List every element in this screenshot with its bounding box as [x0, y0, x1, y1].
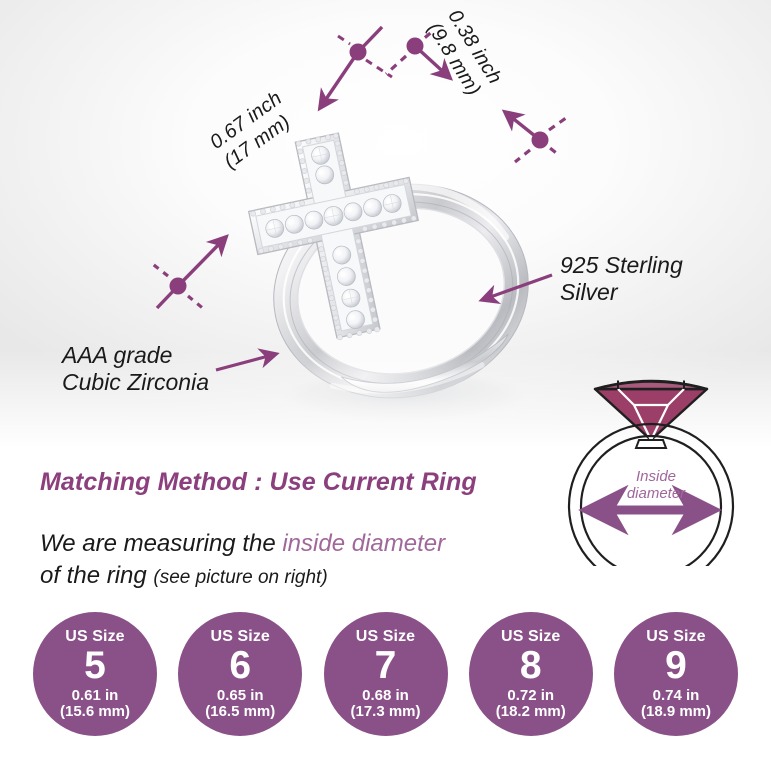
- size-mm: (15.6 mm): [60, 704, 130, 720]
- us-size-list: US Size 5 0.61 in (15.6 mm) US Size 6 0.…: [0, 612, 771, 752]
- size-title: US Size: [501, 629, 560, 646]
- ring-diagram-svg: [556, 366, 746, 566]
- size-circle-6[interactable]: US Size 6 0.65 in (16.5 mm): [178, 612, 302, 736]
- size-inches: 0.72 in: [507, 688, 554, 704]
- callout-label-sterling-silver: 925 Sterling Silver: [560, 252, 683, 306]
- size-mm: (18.9 mm): [641, 704, 711, 720]
- size-circle-5[interactable]: US Size 5 0.61 in (15.6 mm): [33, 612, 157, 736]
- size-inches: 0.68 in: [362, 688, 409, 704]
- size-title: US Size: [356, 629, 415, 646]
- size-circle-7[interactable]: US Size 7 0.68 in (17.3 mm): [324, 612, 448, 736]
- size-title: US Size: [211, 629, 270, 646]
- matching-method-title: Matching Method : Use Current Ring: [40, 468, 477, 497]
- measuring-text-pre2: of the ring: [40, 562, 153, 589]
- inside-diameter-label: Inside diameter: [606, 469, 706, 503]
- measuring-text-pre: We are measuring the: [40, 530, 282, 557]
- inside-diameter-diagram: [556, 366, 746, 566]
- gem-icon: [595, 381, 707, 441]
- size-title: US Size: [65, 629, 124, 646]
- measuring-instruction-line1: We are measuring the inside diameter: [40, 530, 445, 558]
- size-mm: (17.3 mm): [350, 704, 420, 720]
- measuring-instruction-line2: of the ring (see picture on right): [40, 562, 328, 590]
- size-number: 9: [665, 646, 687, 685]
- measuring-text-note: (see picture on right): [153, 567, 327, 588]
- size-number: 7: [375, 646, 397, 685]
- size-number: 6: [229, 646, 251, 685]
- size-title: US Size: [646, 629, 705, 646]
- size-mm: (16.5 mm): [205, 704, 275, 720]
- size-circle-9[interactable]: US Size 9 0.74 in (18.9 mm): [614, 612, 738, 736]
- size-mm: (18.2 mm): [496, 704, 566, 720]
- size-inches: 0.61 in: [72, 688, 119, 704]
- size-number: 5: [84, 646, 106, 685]
- measuring-text-accent: inside diameter: [282, 530, 445, 557]
- ring-size-guide-page: 0.38 inch (9.8 mm) 0.67 inch (17 mm) AAA…: [0, 0, 771, 771]
- size-circle-8[interactable]: US Size 8 0.72 in (18.2 mm): [469, 612, 593, 736]
- callout-label-cubic-zirconia: AAA grade Cubic Zirconia: [62, 342, 209, 396]
- size-inches: 0.74 in: [653, 688, 700, 704]
- size-number: 8: [520, 646, 542, 685]
- size-inches: 0.65 in: [217, 688, 264, 704]
